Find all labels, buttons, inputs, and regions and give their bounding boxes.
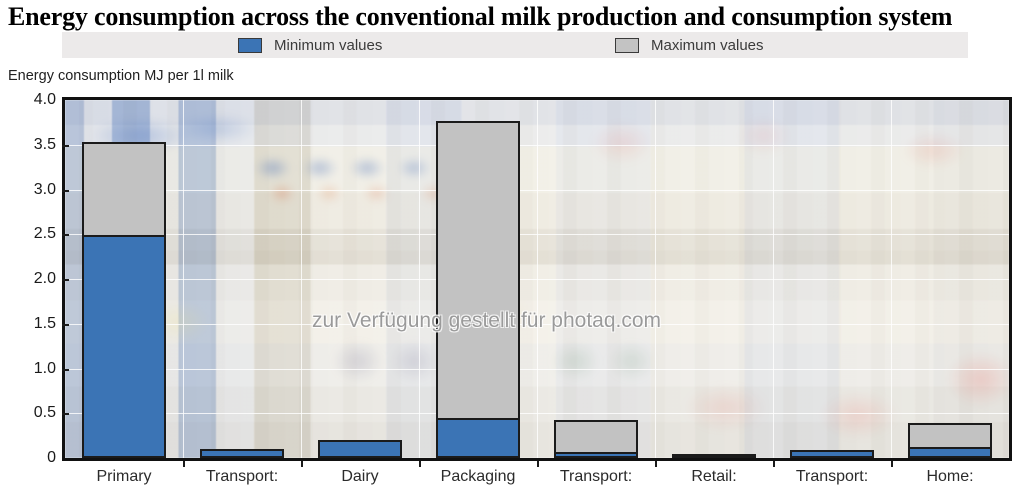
x-axis-tick-label: Dairy <box>301 468 419 486</box>
gridline-vertical <box>655 100 656 458</box>
chart-title: Energy consumption across the convention… <box>8 2 1018 32</box>
x-axis-tick-label: Transport: <box>773 468 891 486</box>
bar-group[interactable] <box>318 100 402 458</box>
bar-segment-minimum[interactable] <box>82 235 166 458</box>
y-axis-tick-label: 2.0 <box>4 270 56 288</box>
bar-group[interactable] <box>790 100 874 458</box>
y-axis-tick-mark <box>62 190 69 192</box>
bar-segment-maximum[interactable] <box>82 142 166 237</box>
x-axis-tick-mark <box>655 461 657 467</box>
bar-segment-maximum[interactable] <box>436 121 520 419</box>
bar-group[interactable] <box>200 100 284 458</box>
bar-group[interactable] <box>908 100 992 458</box>
bar-segment-minimum[interactable] <box>554 452 638 458</box>
plot-area: zur Verfügung gestellt für photaq.com <box>62 97 1012 461</box>
bar-segment-minimum[interactable] <box>908 447 992 458</box>
bar-segment-minimum[interactable] <box>790 450 874 458</box>
bar-group[interactable] <box>436 100 520 458</box>
gridline-vertical <box>537 100 538 458</box>
y-axis-tick-mark <box>62 279 69 281</box>
x-axis-tick-label: Primary <box>65 468 183 486</box>
y-axis-tick-label: 3.0 <box>4 181 56 199</box>
gridline-vertical <box>301 100 302 458</box>
gridline-vertical <box>891 100 892 458</box>
x-axis-tick-label: Packaging <box>419 468 537 486</box>
bar-segment-maximum[interactable] <box>554 420 638 453</box>
x-axis-tick-mark <box>773 461 775 467</box>
legend-label-maximum: Maximum values <box>651 37 764 54</box>
y-axis-tick-label: 4.0 <box>4 91 56 109</box>
legend-item-maximum[interactable]: Maximum values <box>615 32 764 58</box>
blue-square-swatch-icon <box>238 38 262 53</box>
bar-segment-maximum[interactable] <box>908 423 992 449</box>
x-axis-tick-label: Transport: <box>183 468 301 486</box>
y-axis-tick-mark <box>62 324 69 326</box>
bar-segment-minimum[interactable] <box>318 440 402 458</box>
y-axis-tick-label: 1.0 <box>4 360 56 378</box>
x-axis-tick-mark <box>537 461 539 467</box>
y-axis-tick-label: 0 <box>4 449 56 467</box>
y-axis-tick-mark <box>62 413 69 415</box>
x-axis-tick-mark <box>301 461 303 467</box>
bar-group[interactable] <box>82 100 166 458</box>
chart-page: Energy consumption across the convention… <box>0 0 1024 490</box>
x-axis-tick-label: Transport: <box>537 468 655 486</box>
y-axis-tick-label: 0.5 <box>4 404 56 422</box>
x-axis-tick-mark <box>183 461 185 467</box>
grey-square-swatch-icon <box>615 38 639 53</box>
x-axis-tick-label: Retail: <box>655 468 773 486</box>
x-axis-tick-mark <box>891 461 893 467</box>
bar-group[interactable] <box>554 100 638 458</box>
chart-legend: Minimum values Maximum values <box>62 32 968 58</box>
legend-item-minimum[interactable]: Minimum values <box>238 32 382 58</box>
x-axis-tick-label: Home: <box>891 468 1009 486</box>
bar-segment-minimum[interactable] <box>436 418 520 458</box>
gridline-vertical <box>419 100 420 458</box>
gridline-vertical <box>183 100 184 458</box>
y-axis-tick-label: 3.5 <box>4 136 56 154</box>
legend-label-minimum: Minimum values <box>274 37 382 54</box>
y-axis-tick-label: 2.5 <box>4 225 56 243</box>
y-axis-tick-label: 1.5 <box>4 315 56 333</box>
y-axis: 00.51.01.52.02.53.03.54.0 <box>0 97 56 461</box>
x-axis-tick-mark <box>419 461 421 467</box>
y-axis-title: Energy consumption MJ per 1l milk <box>8 68 234 84</box>
bar-segment-minimum[interactable] <box>672 454 756 458</box>
bar-group[interactable] <box>672 100 756 458</box>
y-axis-tick-mark <box>62 145 69 147</box>
bar-segment-minimum[interactable] <box>200 449 284 458</box>
y-axis-tick-mark <box>62 369 69 371</box>
gridline-vertical <box>773 100 774 458</box>
y-axis-tick-mark <box>62 234 69 236</box>
